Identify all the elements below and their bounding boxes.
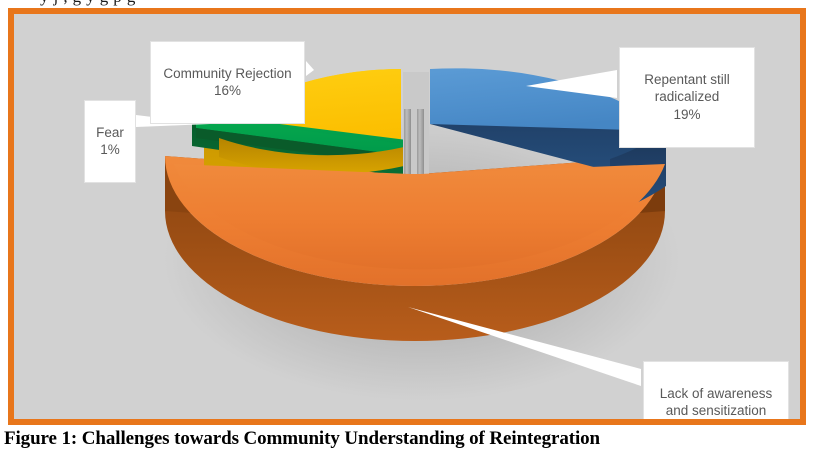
data-label-lack-of-awareness-text: Lack of awareness and sensitization xyxy=(660,386,773,419)
data-label-fear-text: Fear xyxy=(96,125,124,140)
data-label-repentant-still-radicalized-text: Repentant still radicalized xyxy=(644,72,730,105)
leader-line-community xyxy=(306,61,314,76)
data-label-community-rejection[interactable]: Community Rejection 16% xyxy=(150,41,305,124)
data-label-repentant-still-radicalized[interactable]: Repentant still radicalized 19% xyxy=(619,47,755,148)
figure-page: y j , g y g p g xyxy=(0,0,816,455)
data-label-fear-percent: 1% xyxy=(94,141,126,159)
cropped-body-text-label: y j , g y g p g xyxy=(0,0,816,7)
data-label-community-rejection-percent: 16% xyxy=(160,82,295,100)
data-label-repentant-still-radicalized-percent: 19% xyxy=(629,106,745,124)
data-label-fear[interactable]: Fear 1% xyxy=(84,100,136,183)
data-label-lack-of-awareness[interactable]: Lack of awareness and sensitization 64% xyxy=(643,361,789,425)
figure-caption: Figure 1: Challenges towards Community U… xyxy=(4,428,812,450)
data-label-lack-of-awareness-percent: 64% xyxy=(653,420,779,425)
chart-frame: Community Rejection 16% Fear 1% Repentan… xyxy=(8,8,806,425)
data-label-community-rejection-text: Community Rejection xyxy=(163,66,291,81)
